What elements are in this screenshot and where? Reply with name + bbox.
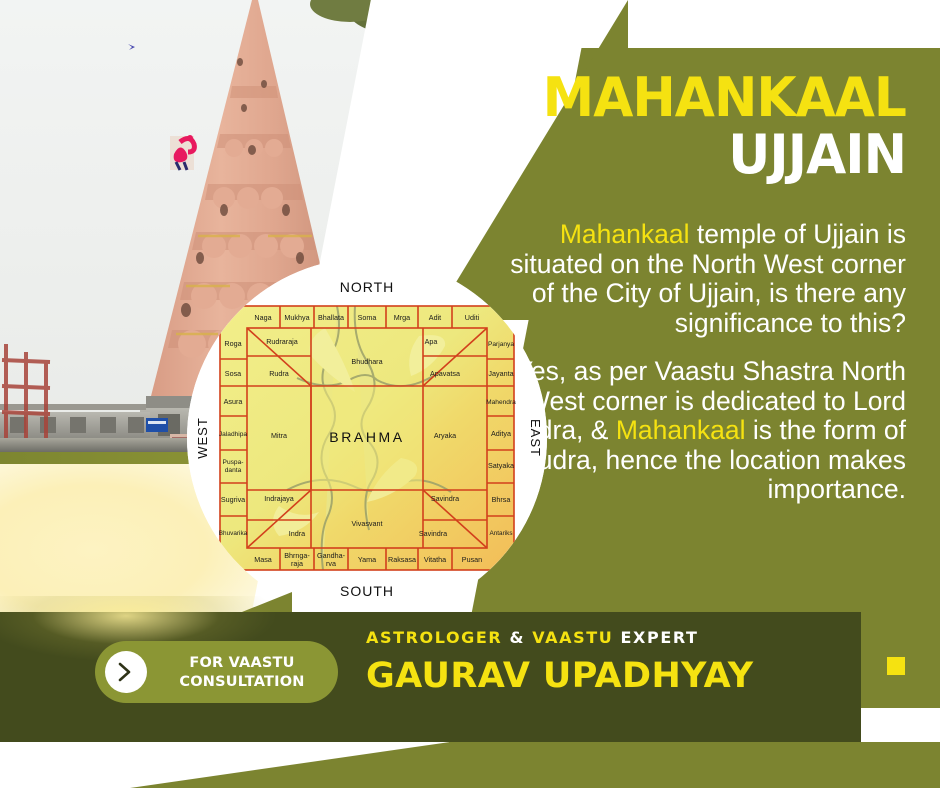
- cell-vitatha: Vitatha: [424, 555, 446, 564]
- accent-square: [887, 657, 905, 675]
- cell-aryaka: Aryaka: [434, 431, 456, 440]
- cell-mahendra: Mahendra: [486, 399, 516, 406]
- cell-naga: Naga: [254, 313, 271, 322]
- role-expert: EXPERT: [613, 628, 698, 647]
- cell-indra: Indra: [289, 529, 305, 538]
- cell-bhuvarika: Bhuvarika: [219, 530, 248, 537]
- cell-bhrsa: Bhrsa: [492, 495, 511, 504]
- role-vaastu: VAASTU: [532, 628, 613, 647]
- brahma-center-label: BRAHMA: [329, 429, 405, 445]
- presenter-name: GAURAV UPADHYAY: [366, 656, 836, 696]
- title-line-2: UJJAIN: [503, 124, 906, 186]
- chevron-right-icon[interactable]: [105, 651, 147, 693]
- direction-south: SOUTH: [340, 583, 394, 599]
- footer-bottom-bar: [449, 742, 940, 788]
- role-amp: &: [502, 628, 532, 647]
- cell-aditya: Aditya: [491, 429, 511, 438]
- vaastu-mandala: Naga Mukhya Bhallata Soma Mrga Adit Udit…: [187, 258, 547, 618]
- cell-mrga: Mrga: [394, 313, 410, 322]
- title-line-1: MAHANKAAL: [503, 72, 906, 124]
- cell-rudraraja: Rudraraja: [266, 337, 298, 346]
- cell-pusan: Pusan: [462, 555, 482, 564]
- cell-sosa: Sosa: [225, 369, 241, 378]
- cell-uditi: Uditi: [465, 313, 480, 322]
- direction-west: WEST: [195, 417, 210, 459]
- question-highlight: Mahankaal: [560, 219, 690, 249]
- cell-yama: Yama: [358, 555, 376, 564]
- cell-adit: Adit: [429, 313, 441, 322]
- cell-soma: Soma: [358, 313, 377, 322]
- direction-east: EAST: [528, 419, 543, 457]
- cell-apa: Apa: [425, 337, 438, 346]
- consultation-button[interactable]: FOR VAASTU CONSULTATION: [95, 641, 338, 703]
- vaastu-mandala-chart: Naga Mukhya Bhallata Soma Mrga Adit Udit…: [187, 258, 547, 618]
- cell-puspadanta: Puspa-: [223, 459, 244, 466]
- content-body: Mahankaal temple of Ujjain is situated o…: [498, 220, 906, 505]
- cell-savindra-1: Savindra: [431, 494, 459, 503]
- cell-bhrngaraja-2: raja: [291, 559, 303, 568]
- cell-gandharva-2: rva: [326, 559, 336, 568]
- cell-jaladhipa: Jaladhipa: [219, 431, 248, 438]
- cell-rudra: Rudra: [269, 369, 289, 378]
- cell-mukhya: Mukhya: [284, 313, 309, 322]
- cell-parjanya: Parjanya: [488, 341, 514, 348]
- cell-vivasvant: Vivasvant: [351, 519, 382, 528]
- cell-jayanta: Jayanta: [488, 369, 513, 378]
- cell-asura: Asura: [224, 397, 243, 406]
- cell-antariks: Antariks: [489, 530, 512, 537]
- presenter-block: ASTROLOGER & VAASTU EXPERT GAURAV UPADHY…: [366, 628, 836, 696]
- presenter-role: ASTROLOGER & VAASTU EXPERT: [366, 628, 836, 647]
- cell-indrajaya: Indrajaya: [264, 494, 294, 503]
- poster-canvas: BHAGYAM Destiny Decoded MAHANKAAL UJJAIN…: [0, 0, 940, 788]
- role-astrologer: ASTROLOGER: [366, 628, 502, 647]
- cell-roga: Roga: [224, 339, 241, 348]
- cell-apavatsa: Apavatsa: [430, 369, 460, 378]
- hero-title: MAHANKAAL UJJAIN: [486, 72, 906, 186]
- answer-highlight: Mahankaal: [616, 415, 746, 445]
- cell-masa: Masa: [254, 555, 272, 564]
- cell-bhudhara: Bhudhara: [351, 357, 382, 366]
- direction-north: NORTH: [340, 279, 395, 295]
- footer-corner-bottom-left: [130, 742, 450, 788]
- answer-paragraph: Yes, as per Vaastu Shastra North West co…: [498, 357, 906, 505]
- question-paragraph: Mahankaal temple of Ujjain is situated o…: [498, 220, 906, 338]
- cell-raksasa: Raksasa: [388, 555, 416, 564]
- chevron-right-glyph: [117, 661, 135, 683]
- cell-bhallata: Bhallata: [318, 313, 344, 322]
- cell-savindra-2: Savindra: [419, 529, 447, 538]
- cell-sugriva: Sugriva: [221, 495, 245, 504]
- consultation-button-label: FOR VAASTU CONSULTATION: [153, 654, 331, 691]
- cell-puspadanta-2: danta: [225, 467, 242, 474]
- cell-satyaka: Satyaka: [488, 461, 514, 470]
- cell-mitra: Mitra: [271, 431, 287, 440]
